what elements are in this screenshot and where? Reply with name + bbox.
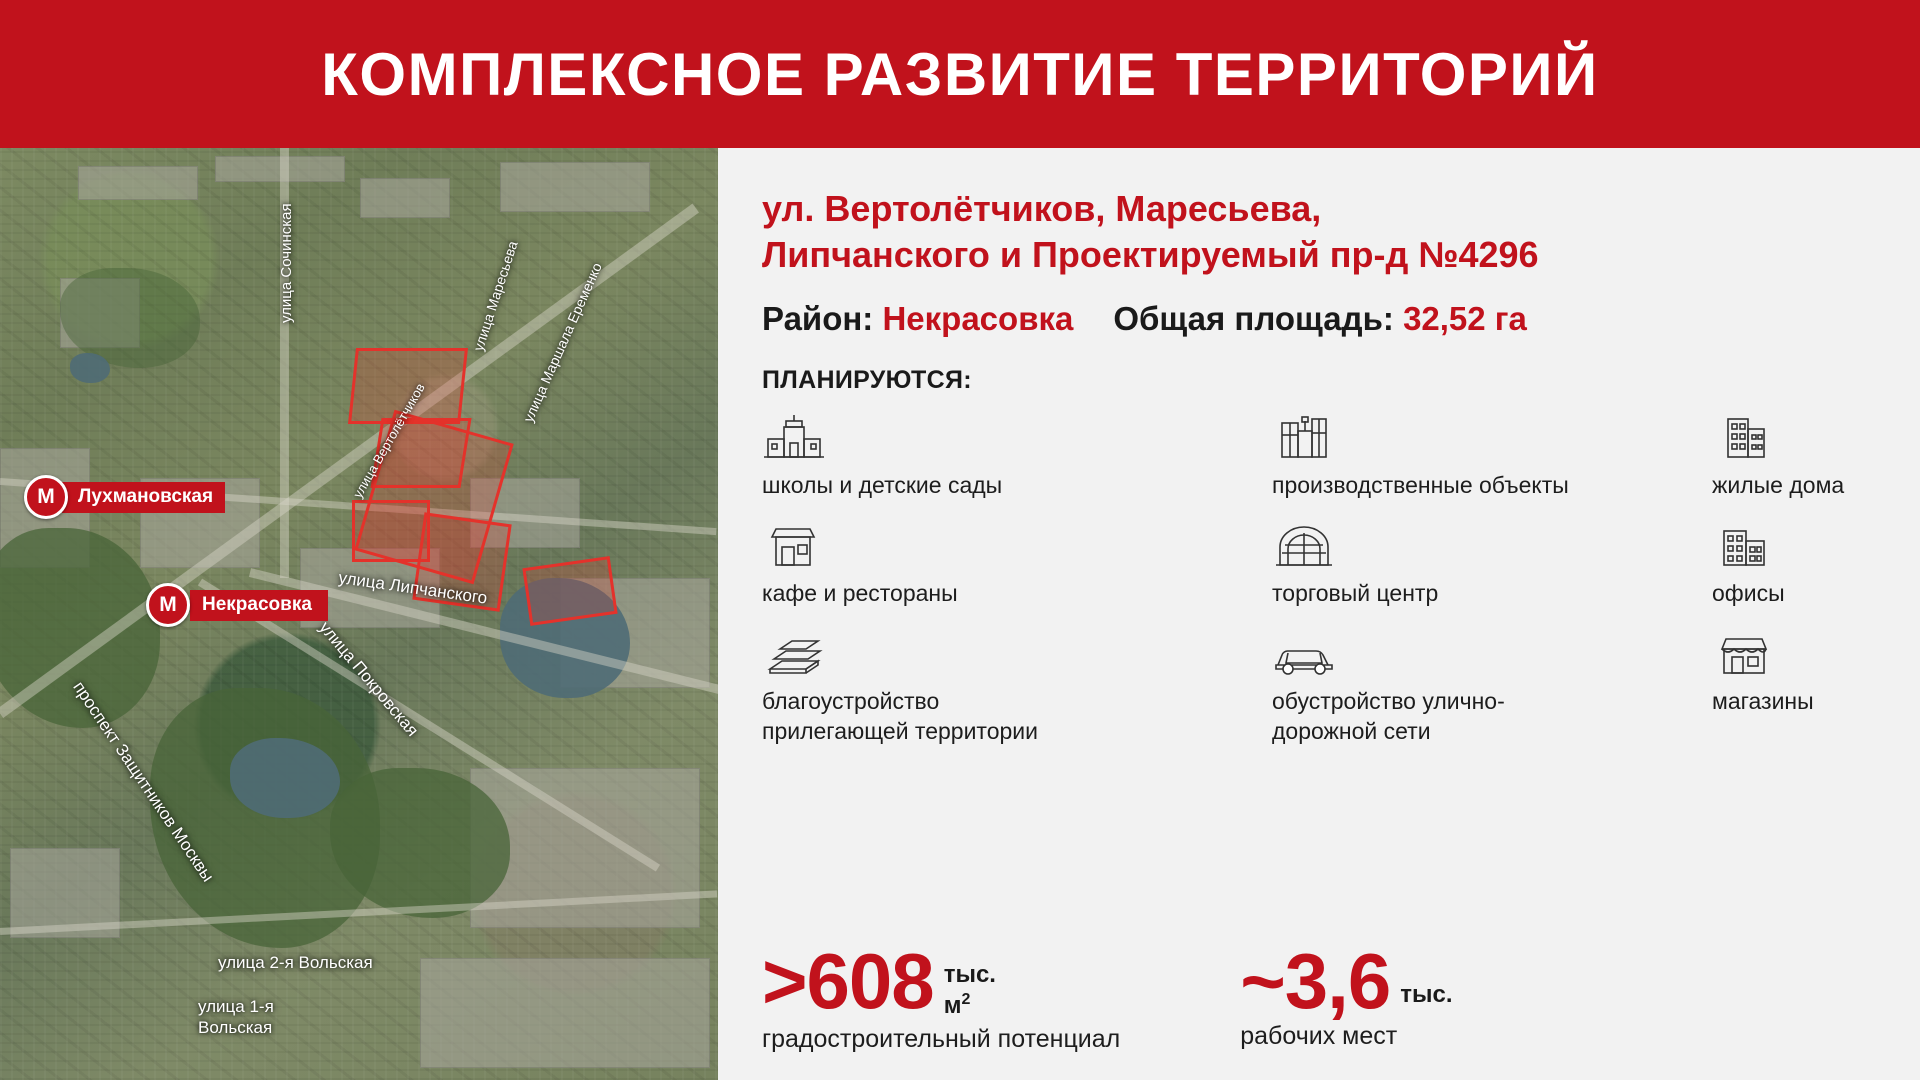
district-value: Некрасовка [882,300,1073,337]
metro-station-label: Некрасовка [190,590,328,621]
metro-station-label: Лухмановская [62,482,225,513]
district-label: Район: [762,300,873,337]
address-line-2: Липчанского и Проектируемый пр-д №4296 [762,232,1874,278]
stat-value-row: >608 тыс. м2 [762,944,1120,1021]
metro-icon: М [146,583,190,627]
address-block: ул. Вертолётчиков, Маресьева, Липчанског… [762,186,1874,278]
map-development-plot [522,556,617,626]
stat-unit-line-1: тыс. [944,960,996,990]
map-street-label: улица Сочинская [278,203,295,323]
feature-label: благоустройство прилегающей территории [762,687,1092,747]
poster-header: КОМПЛЕКСНОЕ РАЗВИТИЕ ТЕРРИТОРИЙ [0,0,1920,148]
feature-label: магазины [1712,687,1874,717]
stat-units: тыс. м2 [944,944,996,1021]
feature-landscaping: благоустройство прилегающей территории [762,629,1262,747]
landscaping-icon [762,629,826,681]
stat-unit-line-1: тыс. [1400,980,1452,1010]
stat-development-potential: >608 тыс. м2 градостроительный потенциал [762,944,1120,1054]
feature-label: офисы [1712,579,1874,609]
feature-label: обустройство улично-дорожной сети [1272,687,1602,747]
metro-icon: М [24,475,68,519]
feature-production: производственные объекты [1272,413,1702,501]
map-water-body [70,353,110,383]
map-urban-block [420,958,710,1068]
feature-schools: школы и детские сады [762,413,1262,501]
factory-icon [1272,413,1336,465]
stat-caption: градостроительный потенциал [762,1025,1120,1054]
map-street-label: улица 1-я Вольская [198,996,288,1039]
features-grid: школы и детские сады производственные об… [762,413,1874,747]
feature-label: жилые дома [1712,471,1874,501]
info-panel: ул. Вертолётчиков, Маресьева, Липчанског… [718,148,1920,1080]
feature-label: кафе и рестораны [762,579,1092,609]
feature-residential: жилые дома [1712,413,1874,501]
stat-units: тыс. [1400,944,1452,1010]
stat-value: ~3,6 [1240,944,1390,1018]
cafe-icon [762,521,826,573]
metro-station-nekrasovka[interactable]: Некрасовка М [146,588,322,622]
district-block: Район: Некрасовка [762,300,1073,338]
feature-cafe: кафе и рестораны [762,521,1262,609]
map-urban-block [78,166,198,200]
feature-shops: магазины [1712,629,1874,747]
stat-value: >608 [762,944,934,1018]
map-urban-block [360,178,450,218]
plans-title: ПЛАНИРУЮТСЯ: [762,366,1874,395]
feature-label: школы и детские сады [762,471,1092,501]
poster-body: улица Сочинская улица Вертолётчиков улиц… [0,148,1920,1080]
feature-road-network: обустройство улично-дорожной сети [1272,629,1702,747]
map-urban-block [500,162,650,212]
feature-mall: торговый центр [1272,521,1702,609]
map-street-label: улица 2-я Вольская [218,953,373,973]
school-icon [762,413,826,465]
infographic-poster: КОМПЛЕКСНОЕ РАЗВИТИЕ ТЕРРИТОРИЙ [0,0,1920,1080]
stat-unit-line-2: м2 [944,990,996,1021]
stat-jobs: ~3,6 тыс. рабочих мест [1240,944,1452,1051]
page-title: КОМПЛЕКСНОЕ РАЗВИТИЕ ТЕРРИТОРИЙ [321,40,1598,109]
feature-label: производственные объекты [1272,471,1602,501]
feature-offices: офисы [1712,521,1874,609]
shop-icon [1712,629,1776,681]
satellite-map[interactable]: улица Сочинская улица Вертолётчиков улиц… [0,148,718,1080]
office-icon [1712,521,1776,573]
stat-value-row: ~3,6 тыс. [1240,944,1452,1018]
address-line-1: ул. Вертолётчиков, Маресьева, [762,186,1874,232]
stats-row: >608 тыс. м2 градостроительный потенциал… [762,944,1874,1054]
residential-icon [1712,413,1776,465]
area-block: Общая площадь: 32,52 га [1113,300,1527,338]
area-label: Общая площадь: [1113,300,1394,337]
feature-label: торговый центр [1272,579,1602,609]
mall-icon [1272,521,1336,573]
area-value: 32,52 га [1403,300,1527,337]
metro-station-luhmanovskaya[interactable]: М Лухмановская [24,480,225,514]
stat-caption: рабочих мест [1240,1022,1452,1051]
meta-row: Район: Некрасовка Общая площадь: 32,52 г… [762,300,1874,338]
road-network-icon [1272,629,1336,681]
